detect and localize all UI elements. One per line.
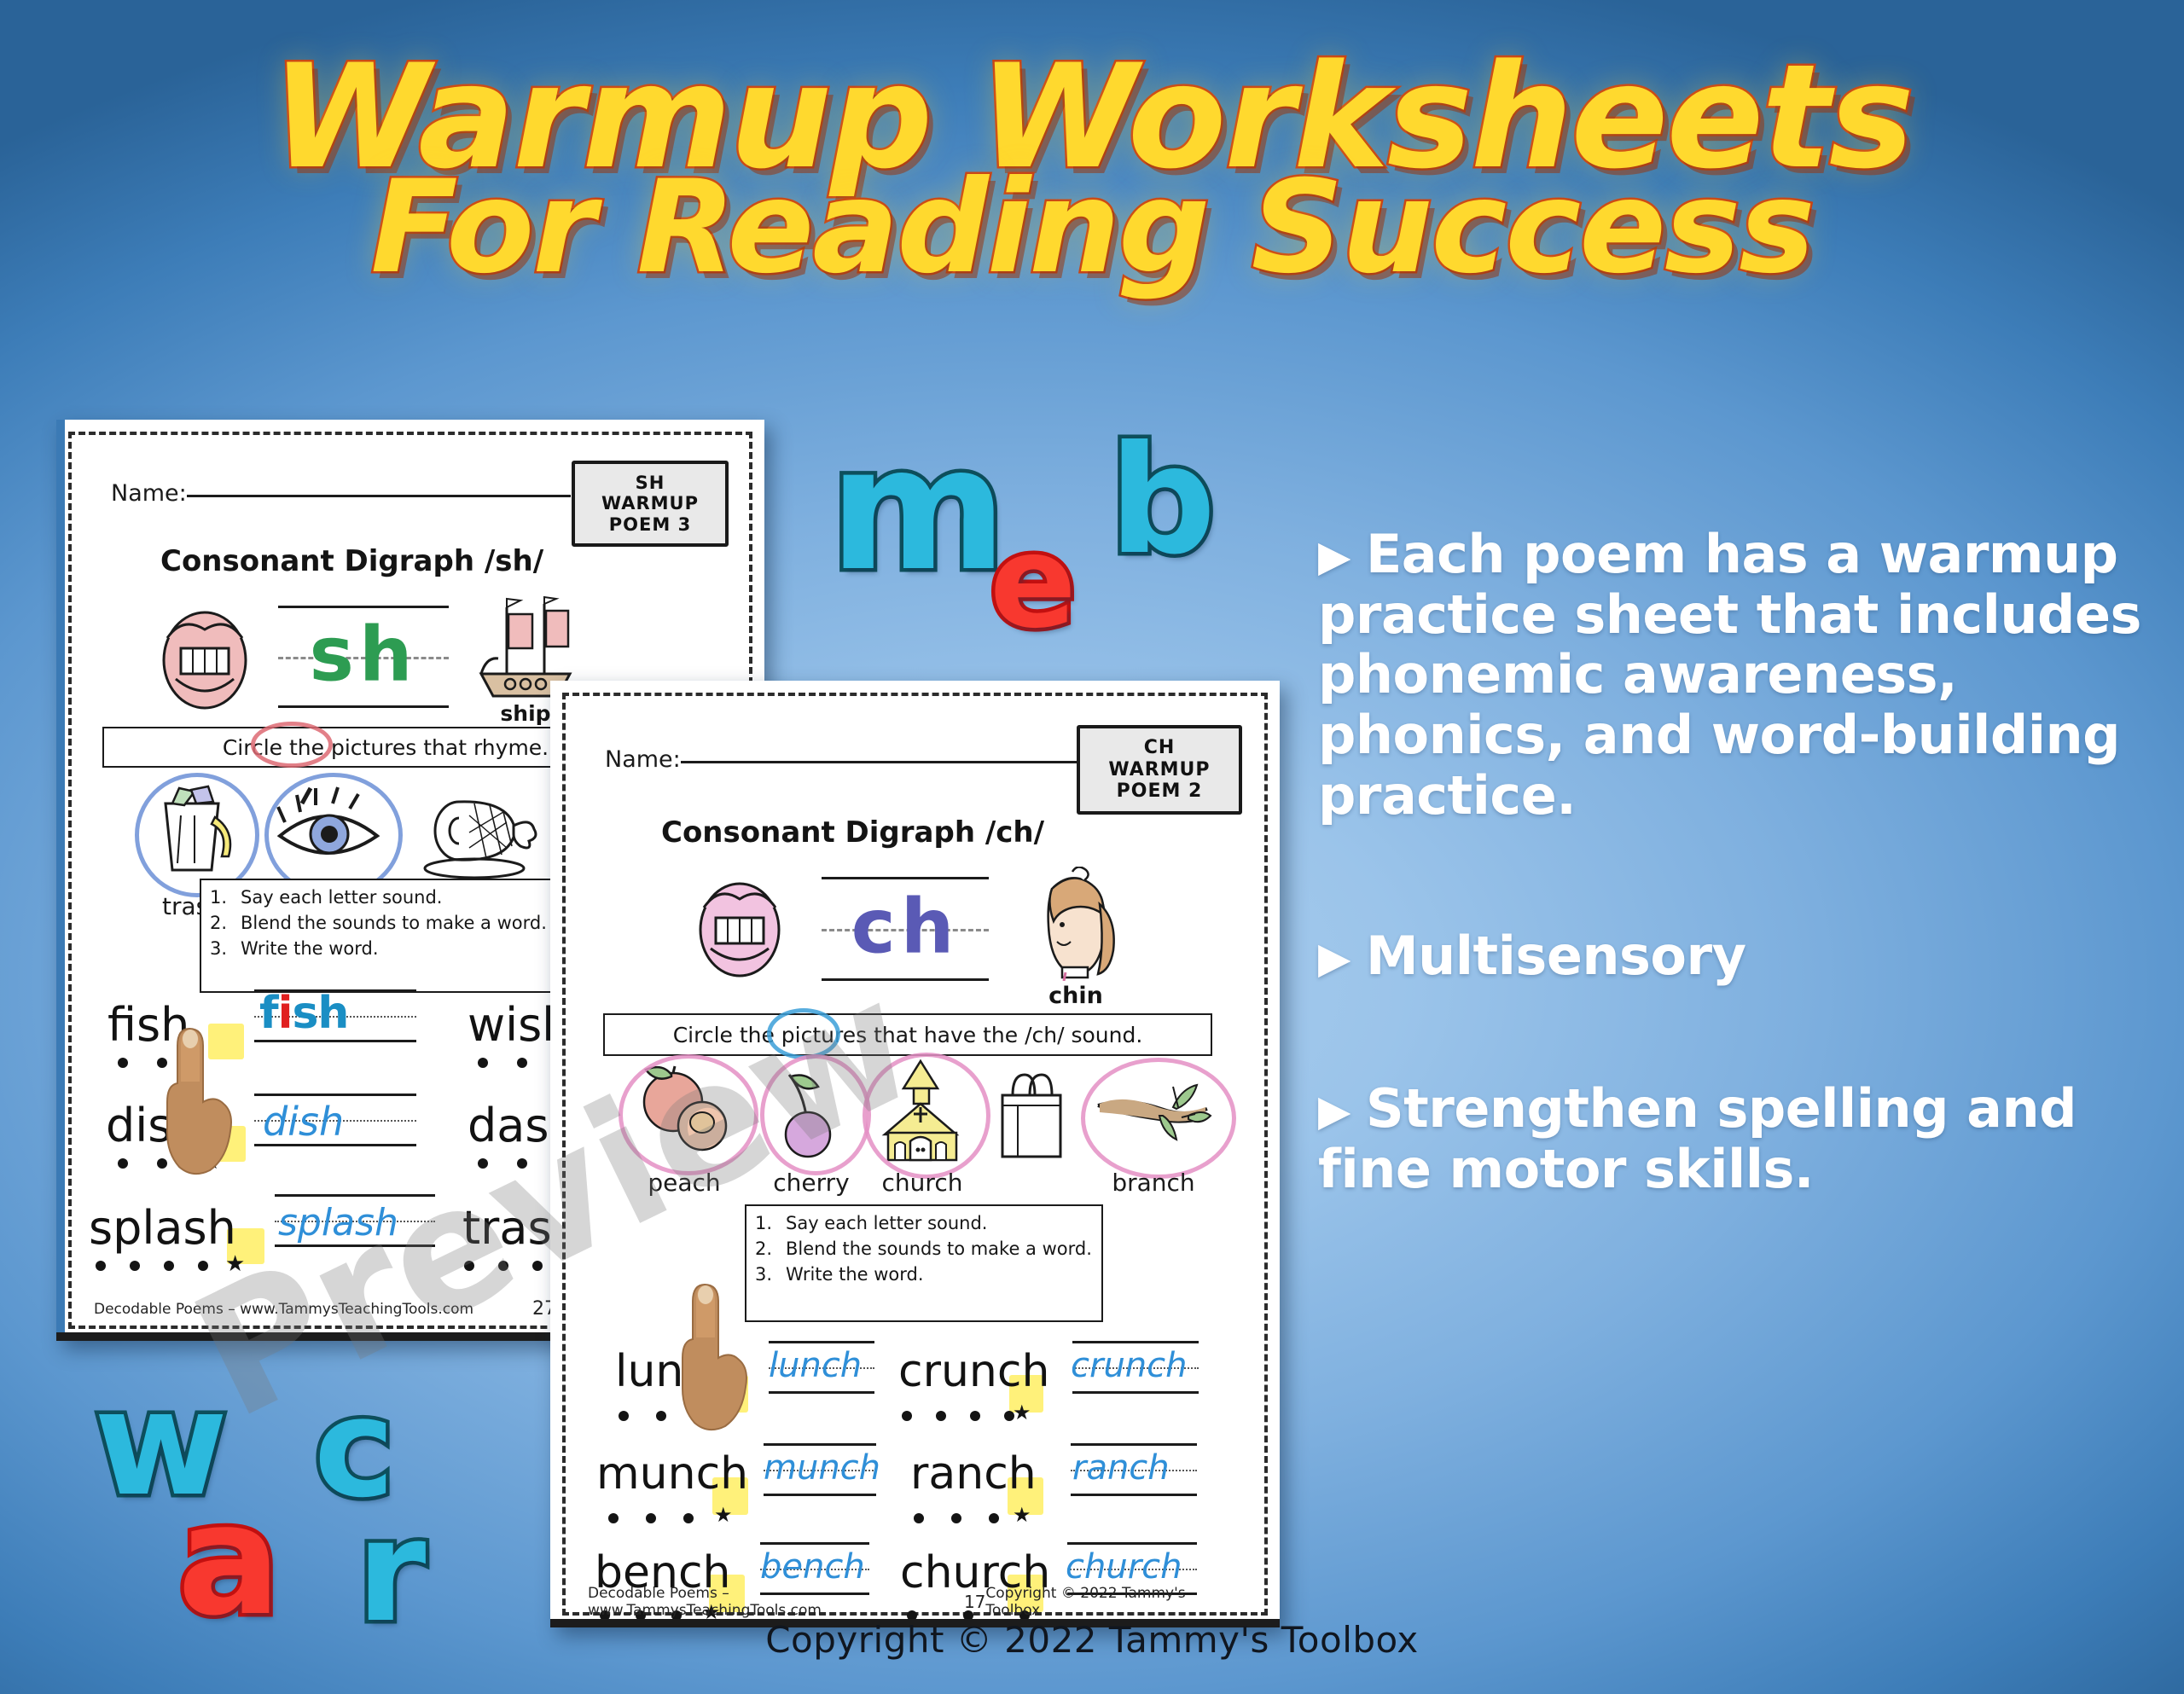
write-line-top xyxy=(1067,1542,1197,1545)
write-line-top xyxy=(254,1094,416,1096)
sound-dots xyxy=(608,1513,694,1523)
step-row: 1.Say each letter sound. xyxy=(755,1211,1093,1237)
page-title: Warmup Worksheets For Reading Success xyxy=(0,49,2184,288)
bag-icon xyxy=(990,1068,1072,1162)
step-row: 3.Write the word. xyxy=(210,937,568,962)
sound-dots xyxy=(478,1058,527,1068)
write-line-top xyxy=(760,1542,869,1545)
step-text: Say each letter sound. xyxy=(786,1211,988,1237)
step-number: 3. xyxy=(755,1262,774,1288)
circle-annotation-cherry xyxy=(760,1054,871,1175)
name-field-sh[interactable]: Name: xyxy=(111,476,571,507)
written-letter: i xyxy=(278,988,293,1039)
name-blank-line[interactable] xyxy=(187,476,571,497)
bullet-text-2: Multisensory xyxy=(1366,925,1746,987)
picture-label-church: church xyxy=(859,1169,985,1197)
write-line-bottom xyxy=(1071,1494,1197,1496)
circle-annotation-instr-sh xyxy=(251,722,333,768)
trace-glyph-sh: sh xyxy=(278,610,449,698)
word-sh-r2-written: dish xyxy=(263,1099,344,1145)
step-number: 3. xyxy=(210,937,229,962)
word-ch-r2-right: ranch xyxy=(910,1448,1037,1500)
write-line-top xyxy=(764,1443,876,1446)
magnet-letter-m[interactable]: m xyxy=(829,425,1007,595)
step-number: 1. xyxy=(755,1211,774,1237)
step-number: 2. xyxy=(755,1237,774,1262)
trace-box-ch[interactable]: ch xyxy=(822,877,989,981)
trace-top-line xyxy=(822,877,989,879)
sound-dots xyxy=(464,1261,543,1271)
magnet-letter-a[interactable]: a xyxy=(177,1484,281,1638)
step-number: 1. xyxy=(210,885,229,911)
bullet-item-1: ▶Each poem has a warmup practice sheet t… xyxy=(1318,525,2171,826)
footer-ch: Decodable Poems – www.TammysTeachingTool… xyxy=(566,1585,1264,1619)
word-sh-r3-left: splash xyxy=(89,1201,236,1255)
write-line-bottom xyxy=(275,1244,435,1247)
sound-dots xyxy=(478,1158,527,1169)
footer-source: Decodable Poems – www.TammysTeachingTool… xyxy=(94,1301,473,1318)
bullet-item-3: ▶Strengthen spelling and fine motor skil… xyxy=(1318,1079,2171,1199)
word-ch-r2-left-written: munch xyxy=(764,1448,880,1488)
sound-dots xyxy=(96,1261,208,1271)
badge-sh: SH WARMUP POEM 3 xyxy=(572,461,729,547)
page-copyright: Copyright © 2022 Tammy's Toolbox xyxy=(0,1619,2184,1661)
word-ch-r1-left-written: lunch xyxy=(769,1346,862,1385)
trace-glyph-ch: ch xyxy=(822,882,989,970)
step-number: 2. xyxy=(210,911,229,937)
step-row: 1.Say each letter sound. xyxy=(210,885,568,911)
picture-label-peach: peach xyxy=(619,1169,750,1197)
sheet-ch-inner: Name: CH WARMUP POEM 2 Consonant Digraph… xyxy=(562,693,1268,1616)
footer-source: Decodable Poems – www.TammysTeachingTool… xyxy=(588,1585,964,1619)
write-line-bottom xyxy=(1072,1391,1199,1394)
trace-bottom-line xyxy=(822,978,989,981)
step-text: Write the word. xyxy=(241,937,379,962)
step-text: Say each letter sound. xyxy=(241,885,443,911)
badge-line-2: WARMUP xyxy=(1083,759,1235,781)
star-mark: ★ xyxy=(1013,1503,1031,1528)
step-text: Blend the sounds to make a word. xyxy=(786,1237,1092,1262)
bullet-arrow-icon: ▶ xyxy=(1318,1087,1350,1135)
step-text: Blend the sounds to make a word. xyxy=(241,911,547,937)
write-line-top xyxy=(275,1194,435,1197)
steps-box-ch: 1.Say each letter sound. 2.Blend the sou… xyxy=(745,1204,1103,1322)
magnet-letter-e[interactable]: e xyxy=(990,519,1077,647)
badge-line-1: CH xyxy=(1083,737,1235,759)
feature-bullet-list: ▶Each poem has a warmup practice sheet t… xyxy=(1318,525,2171,1199)
badge-line-1: SH xyxy=(578,473,722,493)
write-line-bottom xyxy=(254,1040,416,1042)
pointing-hand-icon-ch xyxy=(674,1279,756,1433)
badge-line-3: POEM 3 xyxy=(578,514,722,535)
worksheet-sh-title: Consonant Digraph /sh/ xyxy=(160,544,543,578)
word-sh-r1-written: fish xyxy=(259,988,348,1039)
star-mark: ★ xyxy=(714,1503,733,1528)
mouth-icon xyxy=(157,604,253,711)
step-row: 2.Blend the sounds to make a word. xyxy=(755,1237,1093,1262)
word-ch-r1-right: crunch xyxy=(898,1346,1049,1397)
write-line-top xyxy=(1071,1443,1197,1446)
steps-box-sh: 1.Say each letter sound. 2.Blend the sou… xyxy=(200,879,578,993)
write-line-bottom xyxy=(769,1391,874,1394)
sound-dots xyxy=(914,1513,999,1523)
circle-annotation-peach xyxy=(619,1054,758,1175)
word-ch-r3-right-written: church xyxy=(1066,1547,1182,1587)
written-letter: f xyxy=(259,988,278,1039)
name-label: Name: xyxy=(111,480,187,507)
bullet-arrow-icon: ▶ xyxy=(1318,934,1350,983)
ham-icon xyxy=(421,793,541,879)
name-blank-line[interactable] xyxy=(681,742,1082,763)
bullet-arrow-icon: ▶ xyxy=(1318,532,1350,581)
trace-bottom-line xyxy=(278,705,449,708)
circle-annotation-branch xyxy=(1081,1058,1236,1179)
step-row: 3.Write the word. xyxy=(755,1262,1093,1288)
name-label: Name: xyxy=(605,746,681,773)
circle-annotation-instr-ch xyxy=(767,1008,840,1059)
badge-ch: CH WARMUP POEM 2 xyxy=(1077,725,1242,815)
footer-copyright: Copyright © 2022 Tammy's Toolbox xyxy=(985,1585,1242,1619)
star-mark: ★ xyxy=(225,1250,245,1277)
write-line-bottom xyxy=(764,1494,876,1496)
trace-box-sh[interactable]: sh xyxy=(278,606,449,708)
bullet-text-3: Strengthen spelling and fine motor skill… xyxy=(1318,1077,2077,1200)
badge-line-2: WARMUP xyxy=(578,493,722,513)
word-ch-r3-left-written: bench xyxy=(760,1547,865,1587)
word-ch-r2-right-written: ranch xyxy=(1072,1448,1170,1488)
write-line-top xyxy=(769,1341,874,1343)
mouth-icon xyxy=(694,875,786,979)
footer-page-number: 17 xyxy=(964,1592,985,1612)
word-sh-r3-written: splash xyxy=(278,1201,398,1244)
written-letter: sh xyxy=(292,988,348,1039)
write-line-top xyxy=(1072,1341,1199,1343)
step-row: 2.Blend the sounds to make a word. xyxy=(210,911,568,937)
star-mark: ★ xyxy=(1013,1401,1031,1425)
picture-label-branch: branch xyxy=(1076,1169,1231,1197)
magnet-letter-b[interactable]: b xyxy=(1109,426,1216,576)
magnet-letter-r[interactable]: r xyxy=(357,1501,426,1642)
sheet-left-bar xyxy=(56,420,65,1341)
sound-dots xyxy=(902,1411,1014,1421)
trace-top-line xyxy=(278,606,449,608)
step-text: Write the word. xyxy=(786,1262,924,1288)
picture-label-cherry: cherry xyxy=(755,1169,868,1197)
pointing-hand-icon-sh xyxy=(159,1024,241,1177)
bullet-text-1: Each poem has a warmup practice sheet th… xyxy=(1318,523,2141,827)
word-ch-r1-right-written: crunch xyxy=(1071,1346,1187,1385)
key-picture-label-ch: chin xyxy=(1025,983,1127,1009)
word-ch-r2-left: munch xyxy=(596,1448,748,1500)
circle-annotation-church xyxy=(863,1053,990,1179)
name-field-ch[interactable]: Name: xyxy=(605,742,1082,773)
girl-chin-icon xyxy=(1028,867,1124,981)
badge-line-3: POEM 2 xyxy=(1083,780,1235,803)
slide-background: Warmup Worksheets For Reading Success Na… xyxy=(0,0,2184,1694)
bullet-item-2: ▶Multisensory xyxy=(1318,926,2171,987)
instruction-ch: Circle the pictures that have the /ch/ s… xyxy=(603,1013,1212,1056)
worksheet-ch-title: Consonant Digraph /ch/ xyxy=(661,815,1044,850)
worksheet-ch[interactable]: Name: CH WARMUP POEM 2 Consonant Digraph… xyxy=(550,681,1280,1627)
